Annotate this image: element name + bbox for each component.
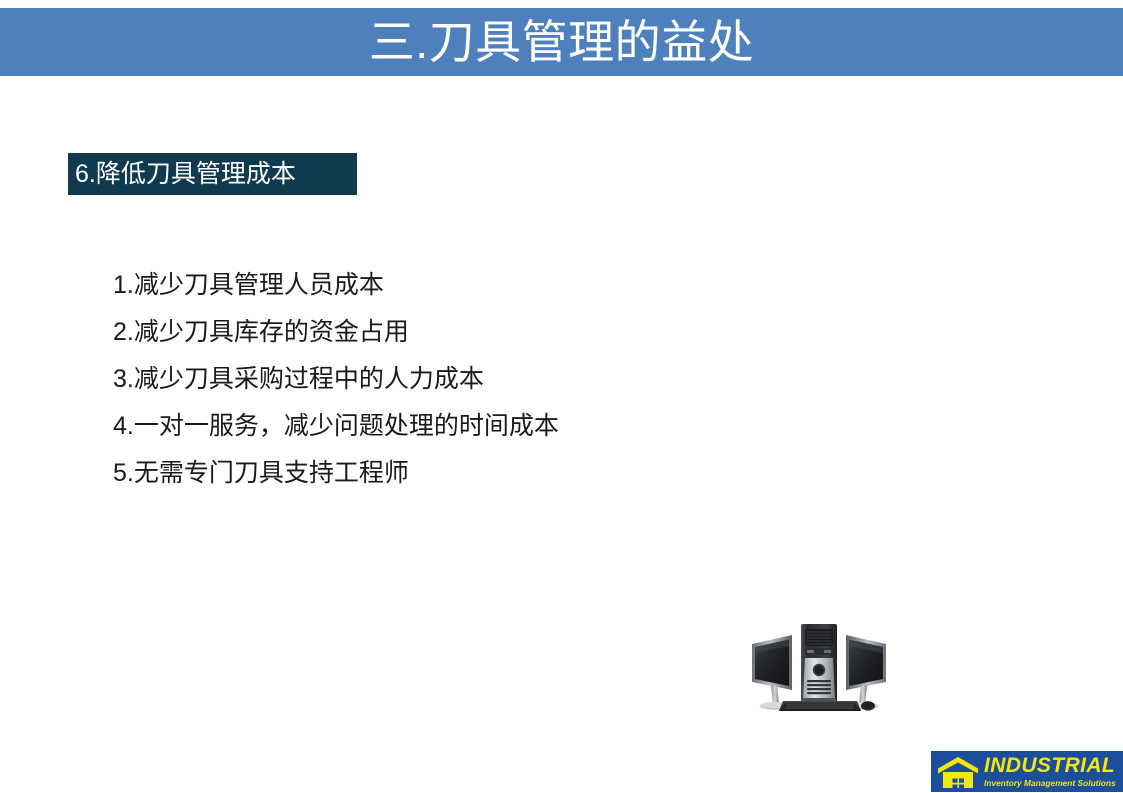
desktop-workstation-image (744, 612, 894, 720)
right-monitor (846, 635, 886, 710)
section-header-chip: 6.降低刀具管理成本 (68, 153, 357, 195)
list-item: 3.减少刀具采购过程中的人力成本 (113, 356, 873, 403)
footer-logo-text-group: INDUSTRIAL Inventory Management Solution… (979, 755, 1123, 787)
benefit-list: 1.减少刀具管理人员成本 2.减少刀具库存的资金占用 3.减少刀具采购过程中的人… (113, 262, 873, 497)
slide-title-banner: 三.刀具管理的益处 (0, 8, 1123, 76)
keyboard (779, 701, 861, 711)
left-monitor (752, 635, 792, 710)
list-item: 2.减少刀具库存的资金占用 (113, 309, 873, 356)
page-title: 三.刀具管理的益处 (369, 19, 754, 65)
list-item: 5.无需专门刀具支持工程师 (113, 450, 873, 497)
footer-logo: INDUSTRIAL Inventory Management Solution… (931, 751, 1123, 792)
list-item: 4.一对一服务，减少问题处理的时间成本 (113, 403, 873, 450)
list-item: 1.减少刀具管理人员成本 (113, 262, 873, 309)
computer-tower (801, 624, 837, 707)
warehouse-icon (937, 755, 979, 789)
footer-logo-tagline: Inventory Management Solutions (984, 779, 1120, 787)
footer-logo-title: INDUSTRIAL (984, 755, 1120, 776)
section-header-label: 6.降低刀具管理成本 (68, 162, 296, 187)
